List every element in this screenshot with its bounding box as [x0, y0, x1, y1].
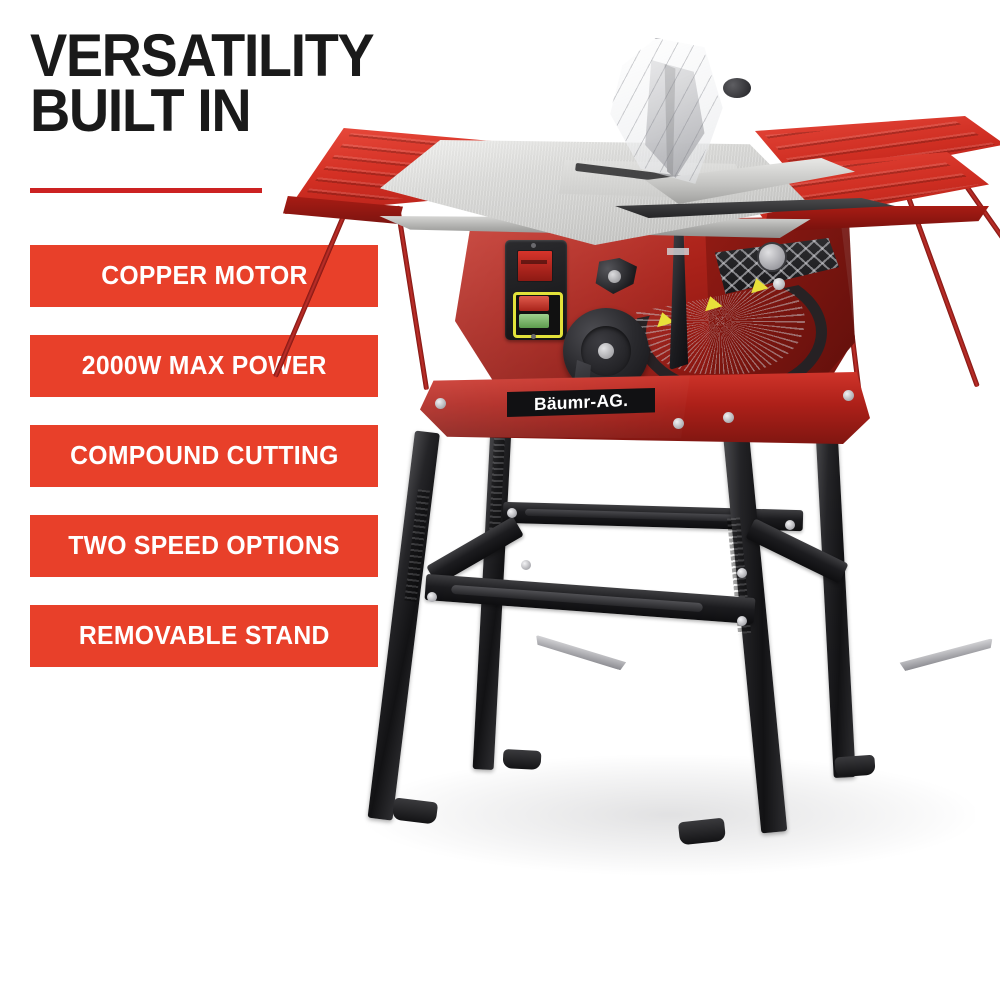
brace-rivet: [785, 520, 795, 530]
foot-tray-left: [533, 635, 628, 671]
apron-bolt: [435, 398, 446, 409]
stop-button[interactable]: [519, 296, 549, 311]
brace-rivet: [737, 568, 747, 578]
floor-shadow: [365, 755, 975, 875]
start-button[interactable]: [519, 314, 549, 328]
title-divider-rule: [30, 188, 262, 193]
poster-canvas: VERSATILITY BUILT IN COPPER MOTOR 2000W …: [0, 0, 1000, 1000]
brace-rivet: [737, 616, 747, 626]
brand-logo-badge: Bäumr-AG.: [507, 388, 655, 417]
product-photo-table-saw: Bäumr-AG.: [275, 20, 1000, 880]
miter-lock-knob[interactable]: [757, 242, 787, 272]
tilt-lever-band: [667, 248, 689, 255]
brace-rivet: [427, 592, 437, 602]
rubber-foot-pad: [834, 755, 875, 778]
brace-rivet: [507, 508, 517, 518]
panel-screw-bottom: [531, 334, 536, 339]
brand-logo-text: Bäumr-AG.: [534, 390, 628, 415]
apron-bolt: [723, 412, 734, 423]
bevel-lock-knob-cap: [608, 270, 621, 283]
rubber-foot-pad: [503, 749, 542, 770]
housing-rivet: [773, 278, 785, 290]
apron-bolt: [673, 418, 684, 429]
handwheel-hub: [598, 343, 614, 359]
power-switch[interactable]: [517, 250, 553, 282]
left-wing-support-strut-2: [395, 206, 429, 390]
panel-screw-top: [531, 243, 536, 248]
left-wing-support-strut: [273, 201, 352, 378]
apron-bolt: [843, 390, 854, 401]
blade-guard-knob[interactable]: [723, 78, 751, 98]
brace-rivet: [521, 560, 531, 570]
foot-tray-right: [899, 638, 996, 672]
switch-slot: [521, 260, 547, 264]
stand-leg-back-right: [815, 419, 856, 778]
